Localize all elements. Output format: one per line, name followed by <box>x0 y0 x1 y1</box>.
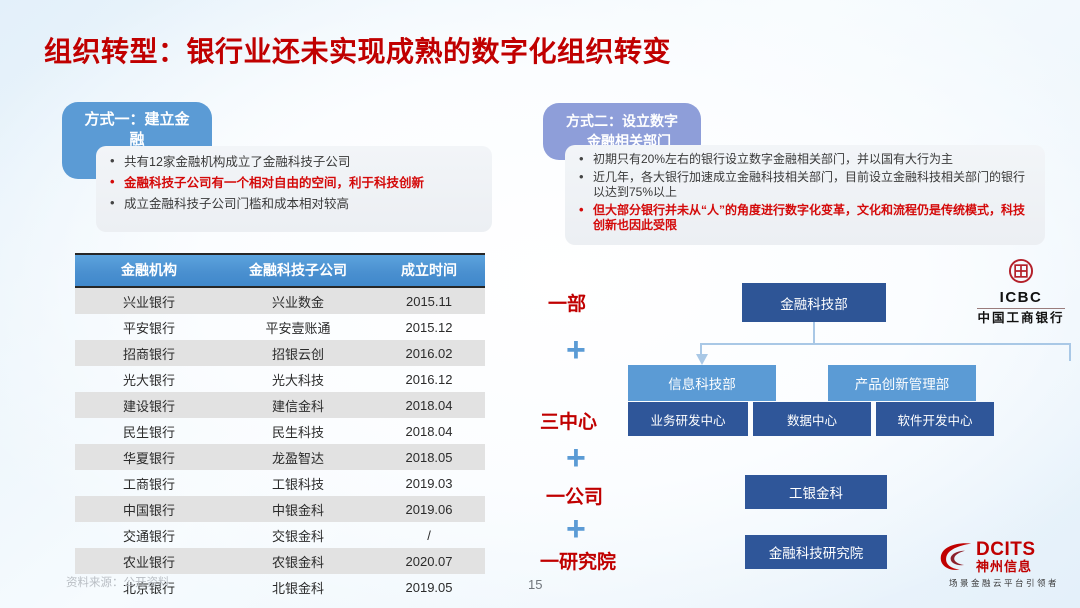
dcits-english-name: DCITS <box>976 540 1036 559</box>
org-label-one-dept: 一部 <box>548 289 586 316</box>
column-header-institution: 金融机构 <box>75 254 223 287</box>
approach-two-badge-line1: 方式二：设立数字 <box>566 113 678 129</box>
cell-founded: 2015.12 <box>373 314 485 340</box>
org-label-one-institute: 一研究院 <box>540 547 616 574</box>
approach-two-bullet-list: 初期只有20%左右的银行设立数字金融相关部门，并以国有大行为主 近几年，各大银行… <box>575 152 1033 233</box>
org-label-one-company: 一公司 <box>546 482 603 509</box>
cell-institution: 建设银行 <box>75 392 223 418</box>
table-header-row: 金融机构 金融科技子公司 成立时间 <box>75 254 485 287</box>
fintech-subsidiary-table: 金融机构 金融科技子公司 成立时间 兴业银行兴业数金2015.11 平安银行平安… <box>75 253 485 600</box>
cell-founded: 2015.11 <box>373 287 485 314</box>
cell-subsidiary: 招银云创 <box>223 340 373 366</box>
cell-subsidiary: 龙盈智达 <box>223 444 373 470</box>
list-item: 近几年，各大银行加速成立金融科技相关部门，目前设立金融科技相关部门的银行以达到7… <box>575 170 1033 200</box>
plus-icon: + <box>566 441 586 475</box>
source-note: 资料来源：公开资料 <box>66 574 170 590</box>
org-box-data-center: 数据中心 <box>753 402 871 436</box>
cell-founded: 2019.06 <box>373 496 485 522</box>
org-connector-horizontal <box>700 343 1070 345</box>
table-row: 交通银行交银金科/ <box>75 522 485 548</box>
org-connector-vertical <box>813 322 815 344</box>
icbc-org-chart: 一部 + 三中心 + 一公司 + 一研究院 金融科技部 信息科技部 产品创新管理… <box>540 275 1040 575</box>
list-item: 初期只有20%左右的银行设立数字金融相关部门，并以国有大行为主 <box>575 152 1033 167</box>
org-box-business-rd-center: 业务研发中心 <box>628 402 748 436</box>
list-item: 成立金融科技子公司门槛和成本相对较高 <box>106 196 482 212</box>
column-header-founded: 成立时间 <box>373 254 485 287</box>
plus-icon: + <box>566 512 586 546</box>
cell-founded: 2018.04 <box>373 392 485 418</box>
cell-institution: 交通银行 <box>75 522 223 548</box>
table-row: 工商银行工银科技2019.03 <box>75 470 485 496</box>
cell-subsidiary: 交银金科 <box>223 522 373 548</box>
approach-two-panel: 初期只有20%左右的银行设立数字金融相关部门，并以国有大行为主 近几年，各大银行… <box>565 145 1045 245</box>
cell-subsidiary: 北银金科 <box>223 574 373 600</box>
page-title: 组织转型：银行业还未实现成熟的数字化组织转变 <box>44 30 1004 70</box>
cell-subsidiary: 工银科技 <box>223 470 373 496</box>
table-row: 兴业银行兴业数金2015.11 <box>75 287 485 314</box>
cell-subsidiary: 建信金科 <box>223 392 373 418</box>
cell-institution: 农业银行 <box>75 548 223 574</box>
org-box-icbc-fintech-co: 工银金科 <box>745 475 887 509</box>
approach-one-bullet-list: 共有12家金融机构成立了金融科技子公司 金融科技子公司有一个相对自由的空间，利于… <box>106 154 482 212</box>
cell-institution: 招商银行 <box>75 340 223 366</box>
slide-root: 组织转型：银行业还未实现成熟的数字化组织转变 方式一：建立金融 科技子公司 共有… <box>0 0 1080 608</box>
table-row: 华夏银行龙盈智达2018.05 <box>75 444 485 470</box>
cell-institution: 光大银行 <box>75 366 223 392</box>
org-box-product-innovation-dept: 产品创新管理部 <box>828 365 976 401</box>
dcits-chinese-name: 神州信息 <box>976 559 1036 574</box>
page-number: 15 <box>528 577 542 592</box>
org-box-fintech-dept: 金融科技部 <box>742 283 886 322</box>
org-box-it-dept: 信息科技部 <box>628 365 776 401</box>
cell-founded: 2016.12 <box>373 366 485 392</box>
table-header: 金融机构 金融科技子公司 成立时间 <box>75 254 485 287</box>
org-box-fintech-institute: 金融科技研究院 <box>745 535 887 569</box>
table-row: 农业银行农银金科2020.07 <box>75 548 485 574</box>
list-item: 金融科技子公司有一个相对自由的空间，利于科技创新 <box>106 175 482 191</box>
cell-subsidiary: 民生科技 <box>223 418 373 444</box>
approach-one-badge-line1: 方式一：建立金融 <box>84 111 189 148</box>
dcits-logo-row: DCITS 神州信息 <box>938 540 1070 574</box>
cell-founded: 2020.07 <box>373 548 485 574</box>
table-body: 兴业银行兴业数金2015.11 平安银行平安壹账通2015.12 招商银行招银云… <box>75 287 485 600</box>
dcits-logo: DCITS 神州信息 场景金融云平台引领者 <box>938 540 1070 589</box>
cell-subsidiary: 中银金科 <box>223 496 373 522</box>
cell-founded: 2018.04 <box>373 418 485 444</box>
cell-institution: 民生银行 <box>75 418 223 444</box>
cell-subsidiary: 农银金科 <box>223 548 373 574</box>
cell-subsidiary: 光大科技 <box>223 366 373 392</box>
cell-founded: 2016.02 <box>373 340 485 366</box>
cell-founded: 2019.03 <box>373 470 485 496</box>
approach-one-panel: 共有12家金融机构成立了金融科技子公司 金融科技子公司有一个相对自由的空间，利于… <box>96 146 492 232</box>
table-row: 光大银行光大科技2016.12 <box>75 366 485 392</box>
table-row: 建设银行建信金科2018.04 <box>75 392 485 418</box>
list-item: 共有12家金融机构成立了金融科技子公司 <box>106 154 482 170</box>
cell-founded: 2019.05 <box>373 574 485 600</box>
plus-icon: + <box>566 333 586 367</box>
dcits-swirl-icon <box>938 540 974 574</box>
org-box-software-dev-center: 软件开发中心 <box>876 402 994 436</box>
cell-institution: 平安银行 <box>75 314 223 340</box>
list-item: 但大部分银行并未从“人”的角度进行数字化变革，文化和流程仍是传统模式，科技创新也… <box>575 203 1033 233</box>
dcits-logo-text: DCITS 神州信息 <box>976 540 1036 574</box>
table-row: 招商银行招银云创2016.02 <box>75 340 485 366</box>
cell-founded: / <box>373 522 485 548</box>
table-row: 民生银行民生科技2018.04 <box>75 418 485 444</box>
cell-subsidiary: 兴业数金 <box>223 287 373 314</box>
cell-institution: 华夏银行 <box>75 444 223 470</box>
cell-institution: 中国银行 <box>75 496 223 522</box>
table-row: 平安银行平安壹账通2015.12 <box>75 314 485 340</box>
cell-founded: 2018.05 <box>373 444 485 470</box>
org-connector-drop-right <box>1069 343 1071 361</box>
cell-institution: 兴业银行 <box>75 287 223 314</box>
table-row: 中国银行中银金科2019.06 <box>75 496 485 522</box>
column-header-subsidiary: 金融科技子公司 <box>223 254 373 287</box>
cell-institution: 工商银行 <box>75 470 223 496</box>
dcits-tagline: 场景金融云平台引领者 <box>938 577 1070 589</box>
cell-subsidiary: 平安壹账通 <box>223 314 373 340</box>
org-label-three-centers: 三中心 <box>540 407 597 434</box>
